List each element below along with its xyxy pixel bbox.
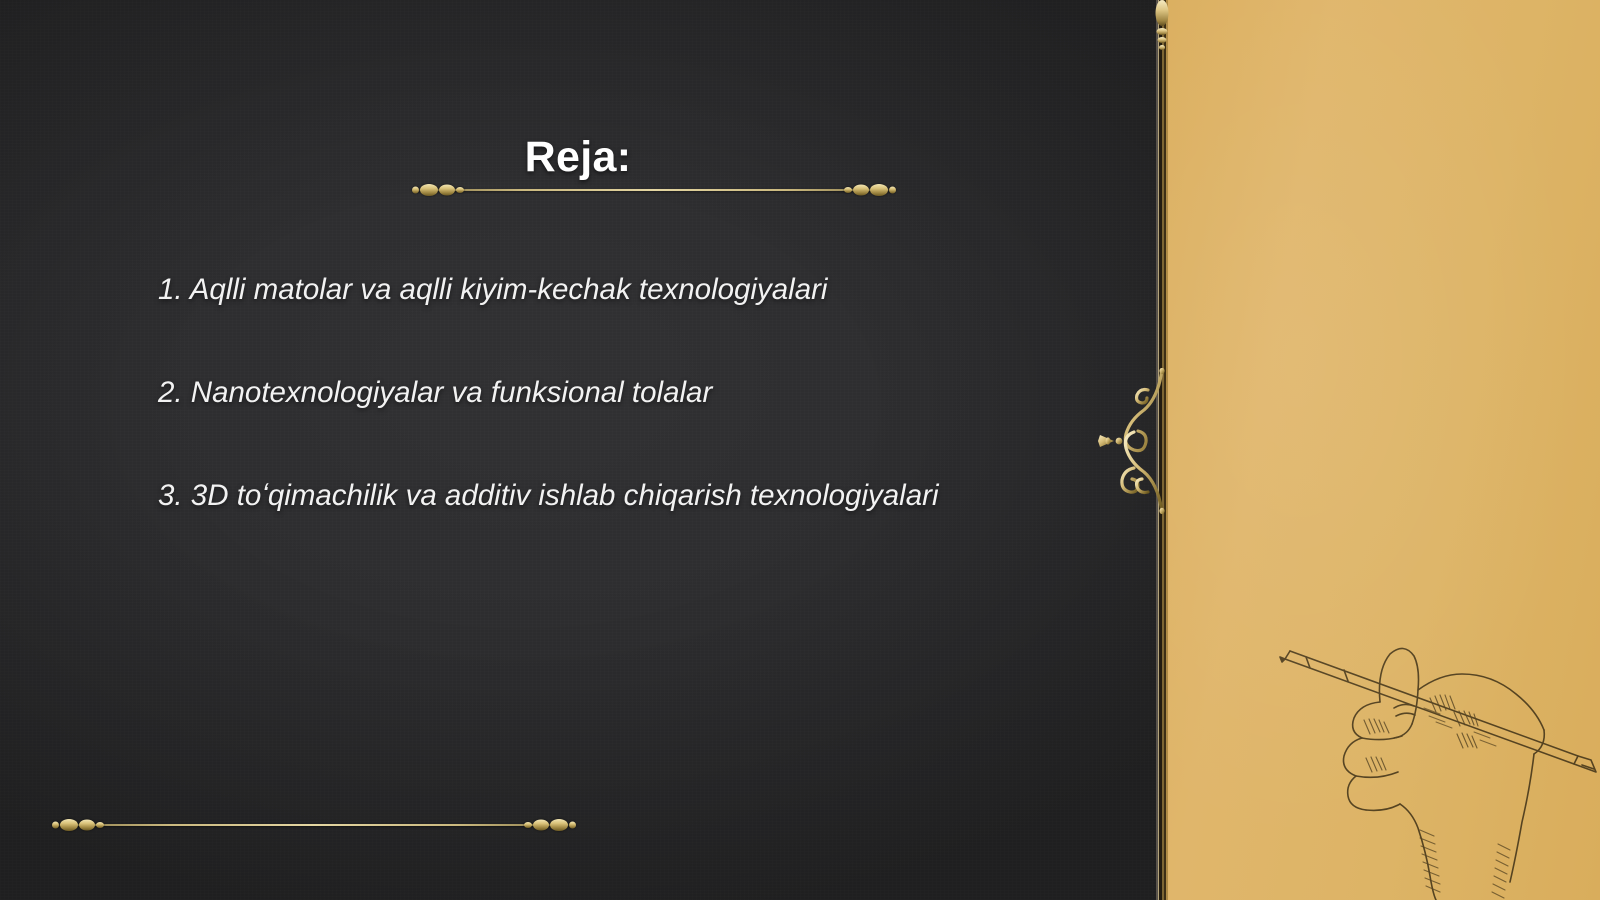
page-title: Reja: (0, 133, 1156, 182)
list-item: 2. Nanotexnologiyalar va funksional tola… (158, 375, 1118, 412)
divider-right-ornament-icon (838, 183, 898, 197)
hand-holding-pencil-icon (1244, 612, 1600, 900)
filigree-scroll-ornament-icon (1096, 368, 1180, 514)
divider-left-ornament-icon (50, 818, 110, 832)
divider-line (58, 824, 570, 826)
agenda-list: 1. Aqlli matolar va aqlli kiyim-kechak t… (158, 272, 1118, 515)
accent-panel (1168, 0, 1600, 900)
list-item: 3. 3D toʻqimachilik va additiv ishlab ch… (158, 478, 1118, 515)
divider-left-ornament-icon (410, 183, 470, 197)
title-ornamental-divider (418, 181, 890, 199)
top-finial-ornament-icon (1154, 0, 1170, 60)
presentation-slide: Reja: 1. Aqlli matolar va aqlli kiyim-ke… (0, 0, 1600, 900)
bottom-ornamental-divider (58, 816, 570, 834)
divider-right-ornament-icon (518, 818, 578, 832)
list-item: 1. Aqlli matolar va aqlli kiyim-kechak t… (158, 272, 1118, 309)
divider-line (418, 189, 890, 191)
